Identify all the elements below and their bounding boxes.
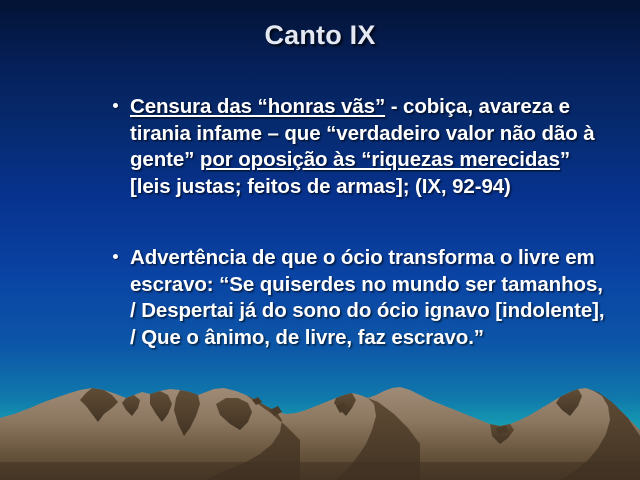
bullet-text-2: Advertência de que o ócio transforma o l… xyxy=(130,246,605,349)
mountain-range-graphic xyxy=(0,370,640,480)
bullet-dot-icon xyxy=(113,254,118,259)
bullet-item: Advertência de que o ócio transforma o l… xyxy=(112,245,612,351)
bullet-dot-icon xyxy=(113,103,118,108)
bullet-1-segment-underlined-a: Censura das “honras vãs” xyxy=(130,95,385,118)
bullet-text-1: Censura das “honras vãs” - cobiça, avare… xyxy=(130,95,595,198)
slide-body: Censura das “honras vãs” - cobiça, avare… xyxy=(112,94,612,351)
presentation-slide: Canto IX Censura das “honras vãs” - cobi… xyxy=(0,0,640,480)
bullet-1-segment-underlined-b: por oposição às “riquezas merecidas xyxy=(200,148,560,171)
mountain-base-wash xyxy=(0,462,640,480)
slide-title: Canto IX xyxy=(0,20,640,51)
bullet-item: Censura das “honras vãs” - cobiça, avare… xyxy=(112,94,612,200)
